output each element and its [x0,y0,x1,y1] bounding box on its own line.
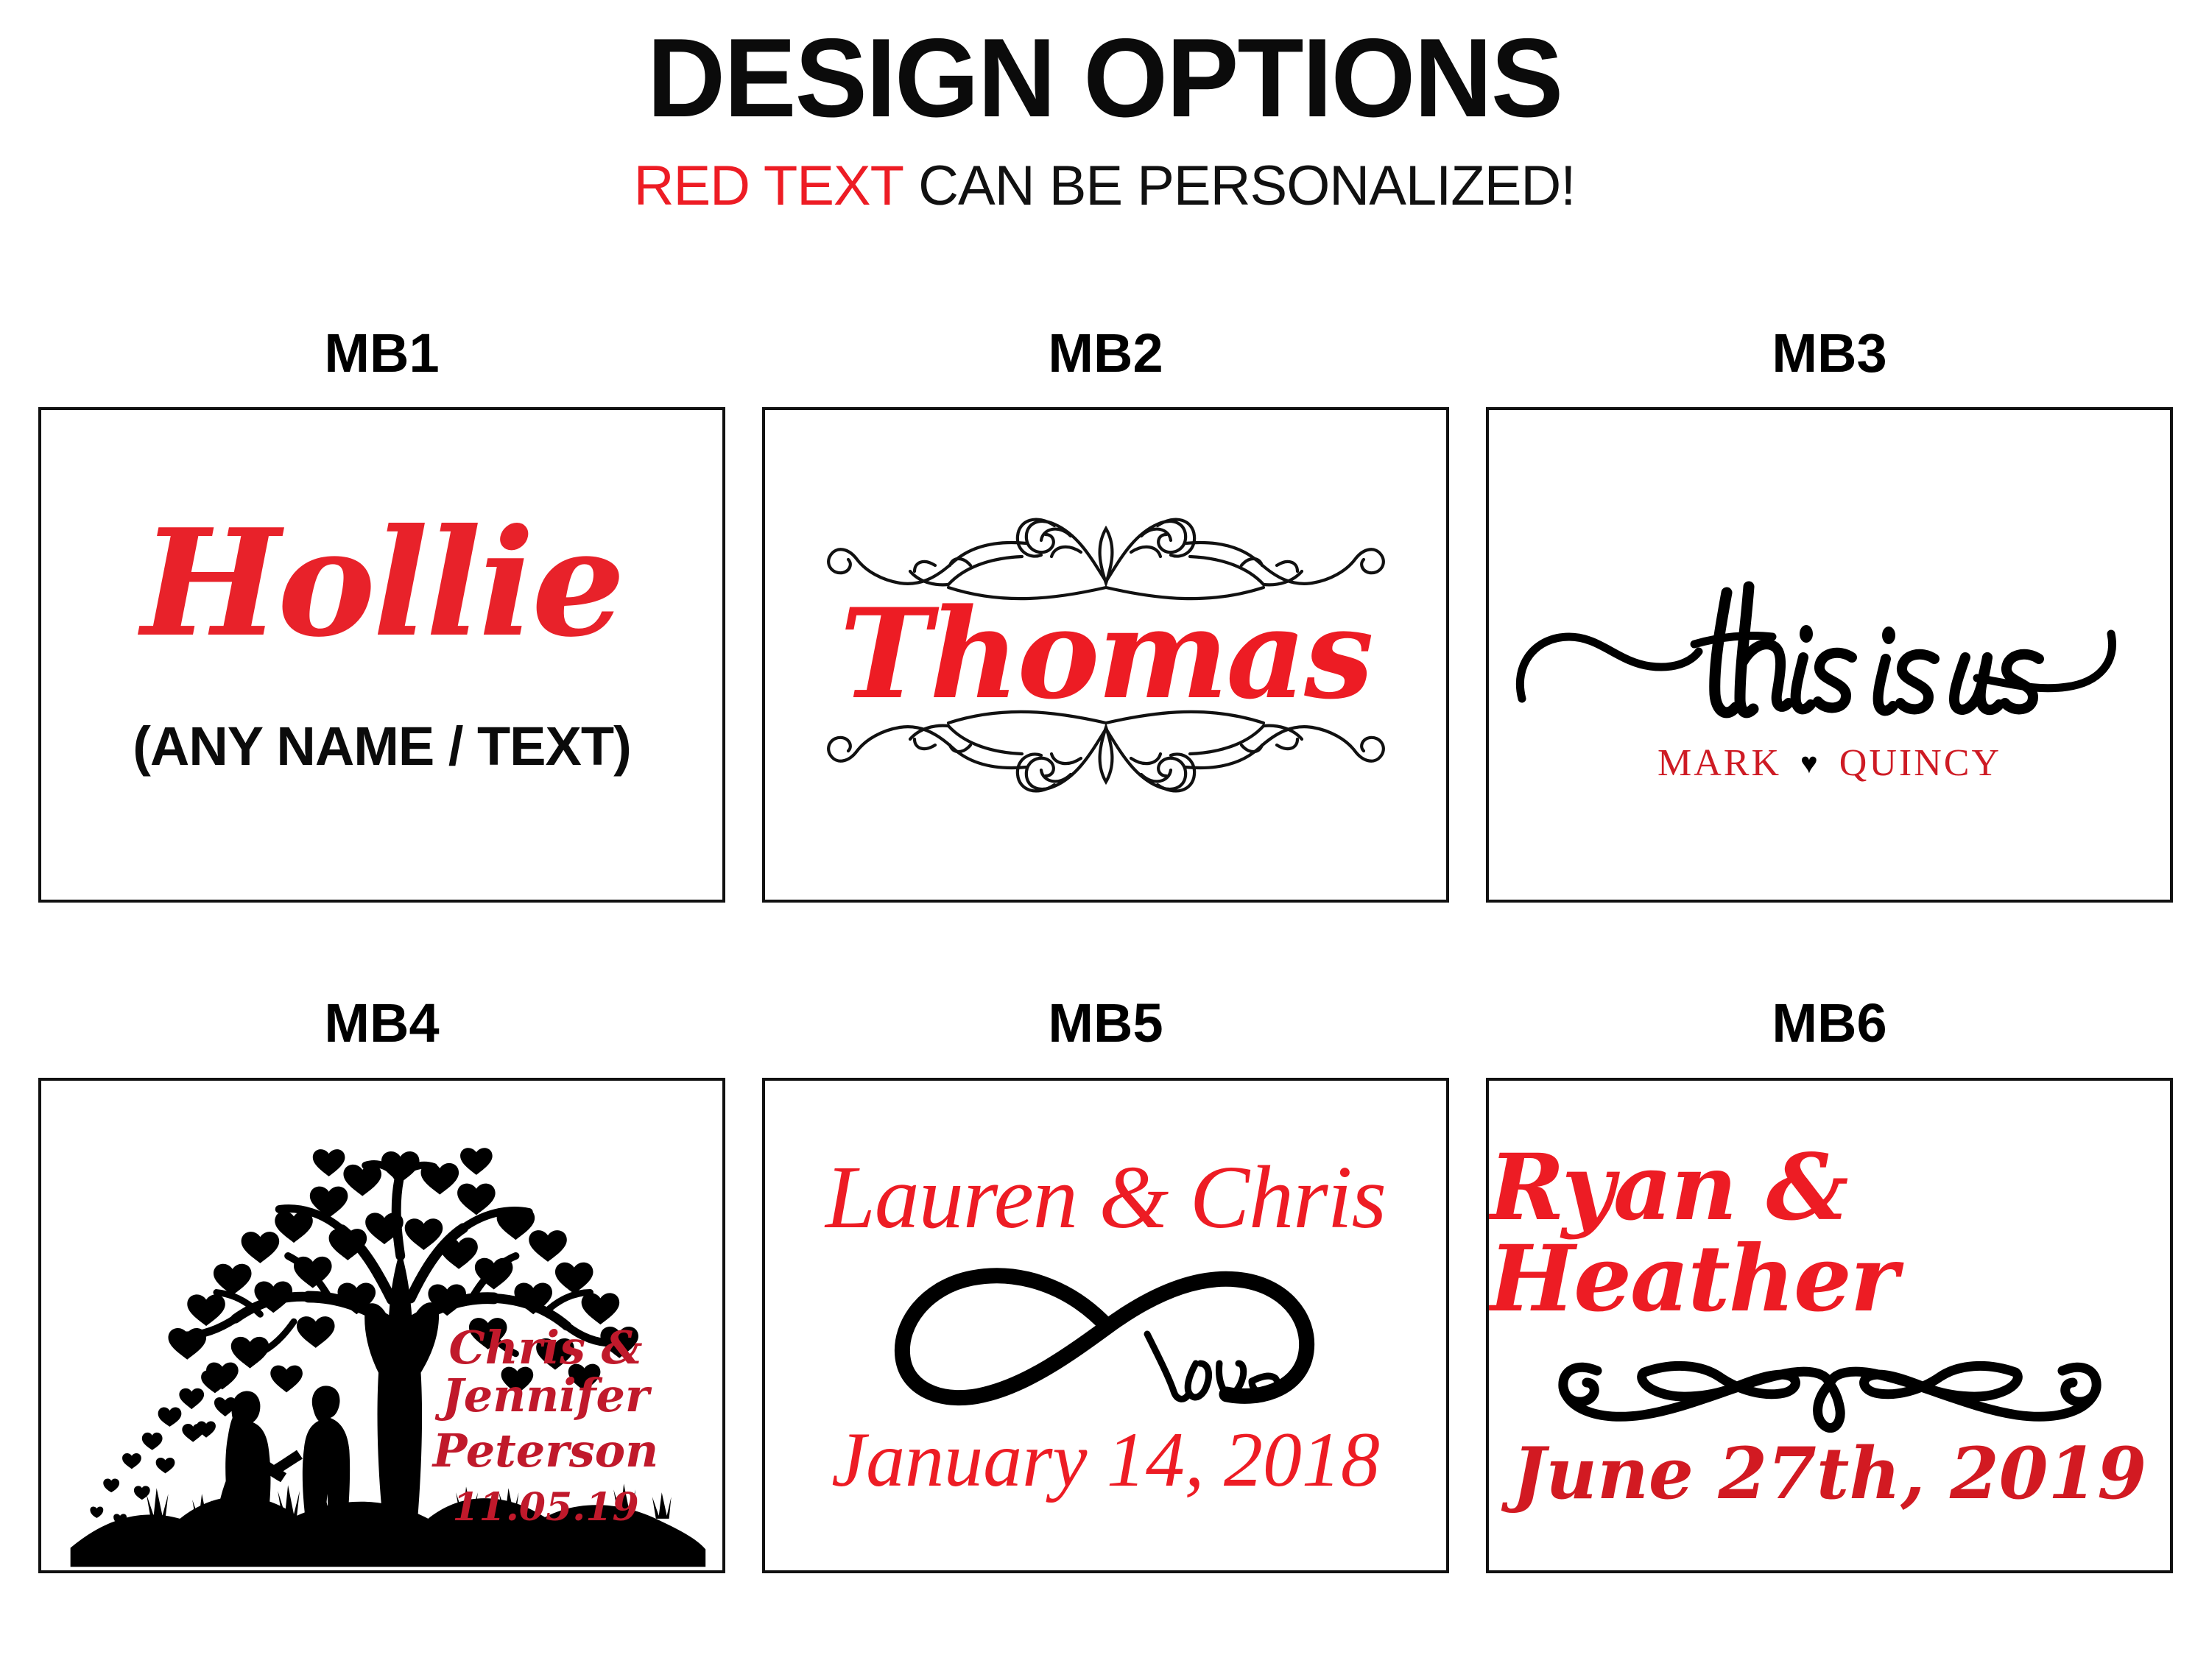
infinity-symbol-icon [848,1247,1364,1416]
design-panel-mb6[interactable]: Ryan & Heather [1486,1078,2173,1573]
label-mb1: MB1 [38,326,725,381]
mb4-line-2: Peterson [398,1427,693,1475]
label-mb2: MB2 [762,326,1449,381]
design-options-sheet: DESIGN OPTIONS RED TEXT CAN BE PERSONALI… [0,0,2209,1680]
subtitle-rest-part: CAN BE PERSONALIZED! [903,155,1575,217]
design-panel-mb3[interactable]: MARK ♥ QUINCY [1486,407,2173,903]
this-is-us-swash-icon [1506,554,2154,738]
mb5-content: Lauren & Chris January 14, 2018 [765,1081,1446,1570]
mb4-text-block: Chris & Jennifer Peterson 11.05.19 [398,1324,693,1528]
label-mb6: MB6 [1486,996,2173,1051]
mb3-names-row: MARK ♥ QUINCY [1657,741,2001,785]
design-panel-mb4[interactable]: Chris & Jennifer Peterson 11.05.19 [38,1078,725,1573]
calligraphic-swirl-divider-icon [1550,1330,2110,1433]
mb6-date: June 27th, 2019 [1512,1439,2146,1509]
mb3-phrase-block: MARK ♥ QUINCY [1489,554,2170,785]
heart-icon: ♥ [1800,749,1820,778]
mb2-content: Thomas [765,410,1446,900]
mb2-name-text: Thomas [839,592,1371,716]
mb3-name-right: QUINCY [1839,741,2001,785]
mb3-content: MARK ♥ QUINCY [1489,410,2170,900]
mb1-caption: (ANY NAME / TEXT) [133,715,630,777]
design-panel-mb2[interactable]: Thomas [762,407,1449,903]
mb5-names: Lauren & Chris [825,1153,1386,1243]
mb1-content: Hollie (ANY NAME / TEXT) [41,410,722,900]
page-subtitle: RED TEXT CAN BE PERSONALIZED! [0,158,2209,214]
label-mb4: MB4 [38,996,725,1051]
subtitle-red-part: RED TEXT [634,155,903,217]
mb1-name-text: Hollie [141,510,623,657]
mb6-content: Ryan & Heather [1489,1081,2170,1570]
mb6-names: Ryan & Heather [1489,1143,2170,1325]
label-mb5: MB5 [762,996,1449,1051]
mb3-name-left: MARK [1657,741,1781,785]
mb4-line-1: Chris & Jennifer [398,1324,693,1419]
mb4-line-3: 11.05.19 [398,1488,693,1528]
page-title: DESIGN OPTIONS [33,22,2176,134]
acanthus-flourish-bottom-icon [811,705,1401,816]
mb5-date: January 14, 2018 [831,1421,1380,1499]
design-panel-mb5[interactable]: Lauren & Chris January 14, 2018 [762,1078,1449,1573]
design-panel-mb1[interactable]: Hollie (ANY NAME / TEXT) [38,407,725,903]
label-mb3: MB3 [1486,326,2173,381]
